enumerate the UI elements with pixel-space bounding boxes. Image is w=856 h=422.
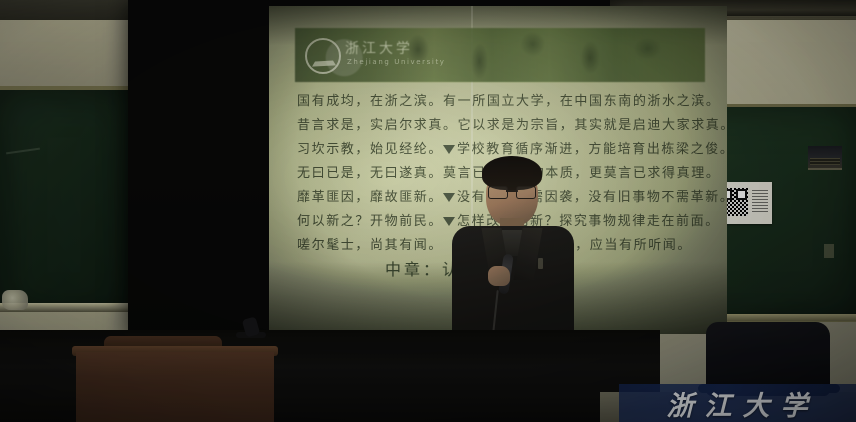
slide-university-name-en: Zhejiang University [347, 58, 446, 66]
slide-line-gloss: 它以求是为宗旨，其实就是启迪大家求真。 [458, 114, 727, 133]
speaker-figure [438, 150, 588, 342]
slide-line-gloss-text: 有一所国立大学，在中国东南的浙水之滨。 [443, 94, 720, 109]
slide-line-verse: 何以新之？开物前民。 [297, 210, 443, 229]
watermark-text: 浙江大学 [657, 384, 819, 422]
slide-university-name-cn: 浙江大学 [345, 38, 413, 58]
slide-line: 国有成均，在浙之滨。有一所国立大学，在中国东南的浙水之滨。 [297, 90, 713, 114]
lecture-hall-scene: 浙江大学 Zhejiang University 国有成均，在浙之滨。有一所国立… [0, 0, 856, 422]
slide-line-verse: 昔言求是，实启尔求真。 [297, 114, 458, 133]
glasses-bridge [506, 190, 518, 192]
slide-line-verse: 习坎示教，始见经纶。 [297, 138, 443, 157]
slide-line-verse: 靡革匪因，靡故匪新。 [297, 186, 443, 205]
slide-line-verse: 无曰已是，无曰遂真。 [297, 162, 443, 181]
speaker-hand [488, 266, 510, 286]
slide-line: 昔言求是，实启尔求真。它以求是为宗旨，其实就是启迪大家求真。 [297, 114, 713, 138]
wall-scuff [824, 244, 834, 258]
wooden-podium [76, 352, 274, 422]
chalkboard-left [0, 86, 128, 320]
slide-line-verse: 国有成均，在浙之滨。 [297, 90, 443, 109]
slide-line-gloss-text: 它以求是为宗旨，其实就是启迪大家求真。 [458, 118, 727, 133]
zju-emblem-icon [305, 38, 341, 74]
glasses-icon [488, 186, 536, 197]
chalk-eraser [2, 290, 28, 310]
speaker-hair [482, 156, 542, 190]
venue-watermark: 浙江大学 [619, 384, 856, 422]
wall-vent-icon [808, 146, 842, 170]
slide-line-gloss: 有一所国立大学，在中国东南的浙水之滨。 [443, 90, 720, 109]
jacket-badge [538, 258, 543, 269]
poster-text-block [752, 190, 768, 212]
